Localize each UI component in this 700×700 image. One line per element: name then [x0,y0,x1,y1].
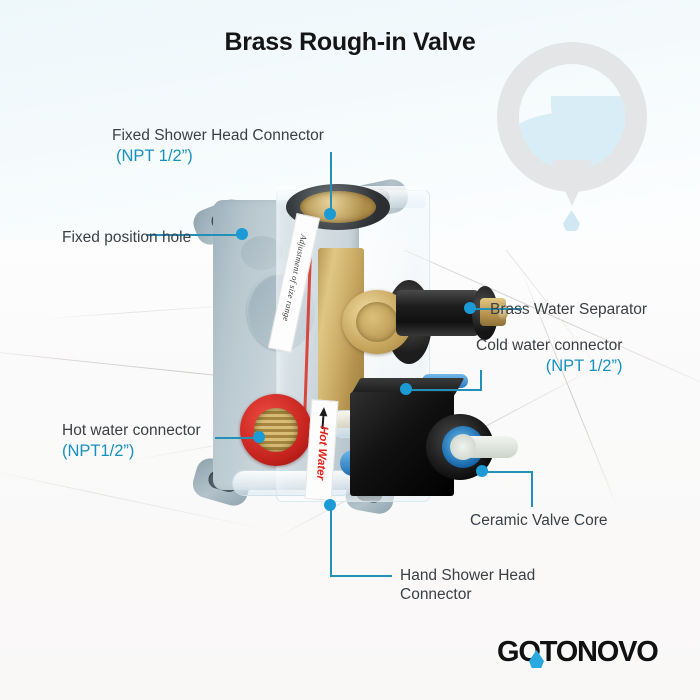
valve-product-image: Adjustment of size range Hot Water [190,178,500,518]
callout-hand-shower: Hand Shower Head Connector [400,566,570,604]
page-title: Brass Rough-in Valve [0,28,700,57]
leader-line-shower-head [330,152,332,214]
callout-hot-water-spec: (NPT1/2”) [62,440,201,462]
leader-line-core-horizontal [482,471,532,473]
brand-logo: GOTONOVO [497,636,685,672]
callout-hand-shower-label: Hand Shower Head Connector [400,567,535,603]
valve-core-ceramic-disc [450,434,476,460]
callout-dot-valve-core [476,465,488,477]
leader-line-cold-horizontal [406,389,482,391]
callout-hot-water-label: Hot water connector [62,422,201,439]
callout-dot-fixed-hole [236,228,248,240]
callout-dot-shower-head [324,208,336,220]
leader-line-hand-horizontal [330,575,392,577]
callout-fixed-hole: Fixed position hole [62,228,191,247]
callout-shower-head: Fixed Shower Head Connector (NPT 1/2”) [112,126,324,167]
callout-dot-separator [464,302,476,314]
leader-line-hand-vertical [330,510,332,576]
callout-hot-water: Hot water connector (NPT1/2”) [62,421,201,462]
callout-valve-core-label: Ceramic Valve Core [470,512,608,529]
callout-cold-water-spec: (NPT 1/2”) [476,355,622,377]
brand-logo-text: GOTONOVO [497,636,685,669]
callout-valve-core: Ceramic Valve Core [470,511,608,530]
callout-fixed-hole-label: Fixed position hole [62,229,191,246]
callout-cold-water: Cold water connector (NPT 1/2”) [476,336,622,377]
clear-tube-lower [232,470,354,496]
hot-water-port [240,394,312,466]
callout-dot-hot-water [253,431,265,443]
callout-cold-water-label: Cold water connector [476,337,622,354]
callout-separator: Brass Water Separator [490,300,647,319]
product-infographic: Brass Rough-in Valve [0,0,700,700]
leader-line-core-vertical [531,471,533,507]
water-drop-ring-watermark [489,42,675,232]
callout-separator-label: Brass Water Separator [490,301,647,318]
callout-dot-cold-water [400,383,412,395]
hot-water-tag-text: Hot Water [312,404,331,503]
callout-shower-head-label: Fixed Shower Head Connector [112,127,324,144]
callout-dot-hand-shower [324,499,336,511]
callout-shower-head-spec: (NPT 1/2”) [116,145,324,167]
